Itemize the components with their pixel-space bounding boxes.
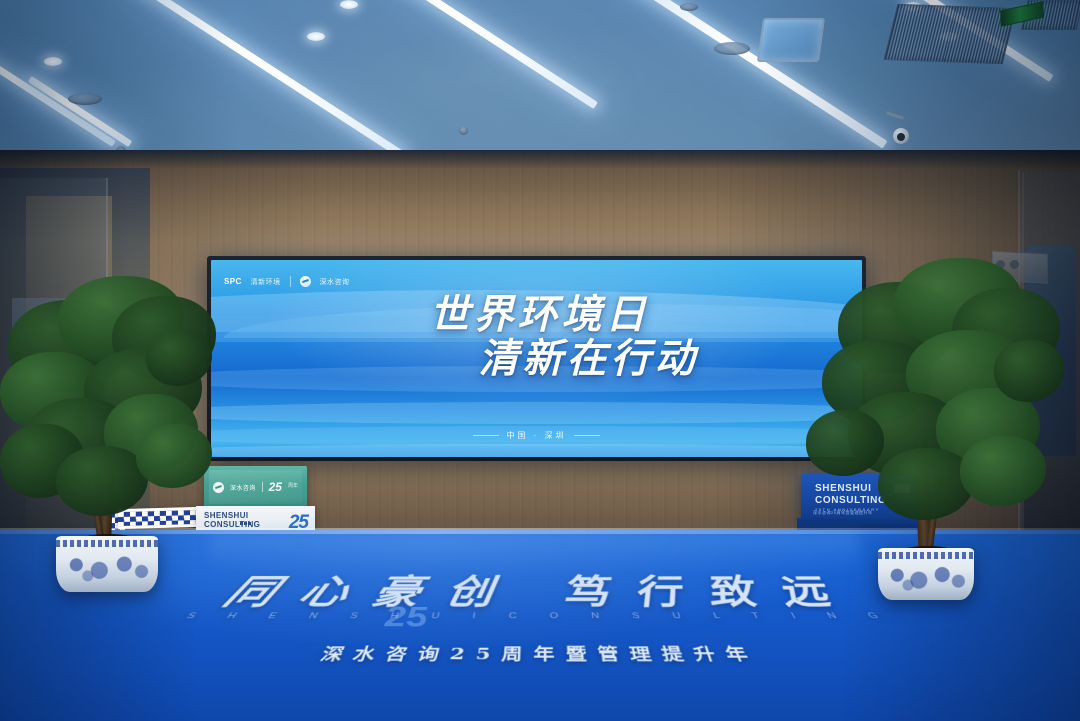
- checker-tile-band: [118, 507, 200, 529]
- logo-divider: [290, 276, 291, 287]
- decorative-rule: [473, 435, 499, 436]
- podium-right-brand-cn: 深水咨询25周年暨管理提升年: [813, 510, 872, 516]
- shenshui-logo-icon: [213, 482, 224, 493]
- shenshui-logo-icon: [300, 276, 311, 287]
- square-icon: [240, 522, 243, 525]
- podium-left: 深水咨询 25 周年: [204, 466, 307, 508]
- square-icon: [244, 522, 247, 525]
- screen-location-line: 中国 · 深圳: [211, 430, 862, 441]
- porcelain-planter-right: [878, 548, 974, 600]
- screen-title-line1: 世界环境日: [211, 294, 862, 336]
- square-icon: [248, 522, 251, 525]
- led-video-wall: SPC 清新环境 深水咨询 世界环境日 清新在行动 中国 · 深圳: [207, 256, 866, 461]
- podium-left-anniversary-number: 25: [269, 480, 282, 494]
- screen-title-block: 世界环境日 清新在行动: [211, 294, 862, 380]
- porcelain-planter-left: [56, 536, 158, 592]
- spc-logo-mark: SPC: [224, 277, 242, 286]
- screen-logo-bar: SPC 清新环境 深水咨询: [224, 276, 349, 287]
- podium-right-brand: SHENSHUI CONSULTING 25TH ANNIVERSARY: [815, 483, 886, 513]
- spc-logo-label: 清新环境: [251, 277, 281, 287]
- screen-title-line2: 清新在行动: [211, 338, 862, 380]
- podium-left-graphic: 深水咨询 25 周年: [209, 470, 302, 504]
- logo-divider: [262, 482, 263, 492]
- podium-right-brand-line2: CONSULTING: [815, 495, 886, 507]
- led-screen-surface: SPC 清新环境 深水咨询 世界环境日 清新在行动 中国 · 深圳: [211, 260, 862, 457]
- shenshui-logo-label: 深水咨询: [320, 277, 350, 287]
- podium-left-brand-cn: 深水咨询: [230, 483, 256, 492]
- screen-location-text: 中国 · 深圳: [506, 431, 566, 440]
- lobby-scene: SPC 清新环境 深水咨询 世界环境日 清新在行动 中国 · 深圳 深水咨询 2…: [0, 0, 1080, 721]
- podium-right-brand-line1: SHENSHUI: [815, 483, 886, 495]
- decorative-rule: [574, 435, 600, 436]
- podium-left-anniversary-sub: 周年: [288, 484, 298, 490]
